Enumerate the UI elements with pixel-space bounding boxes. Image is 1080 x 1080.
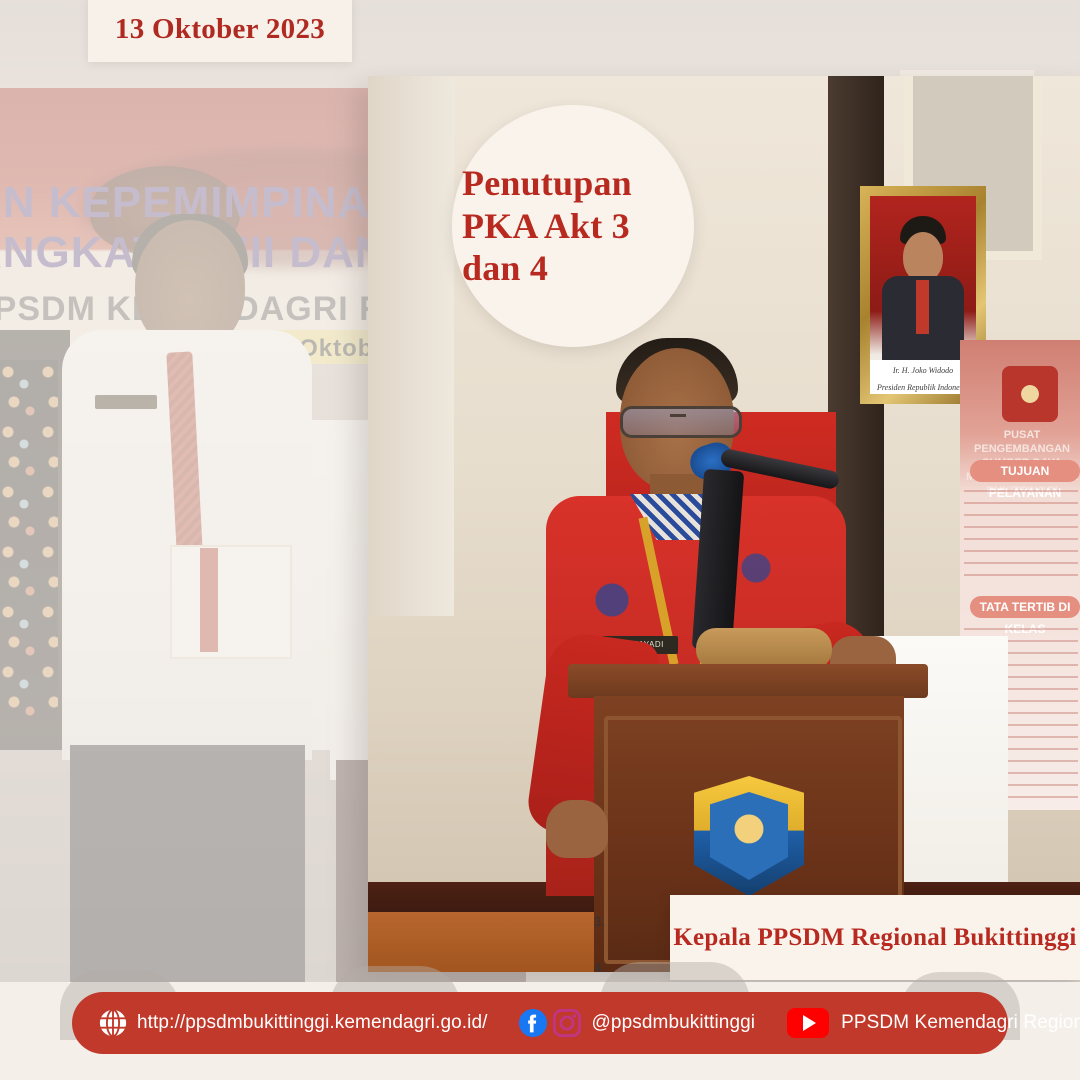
instagram-icon[interactable] (552, 1008, 582, 1038)
main-photo-doorframe (368, 76, 454, 616)
title-circle-badge: Penutupan PKA Akt 3 dan 4 (452, 105, 694, 347)
background-batik-person (0, 360, 58, 720)
poster-canvas: AN KEPEMIMPINAN ADM ANGKATAN III DAN ANG… (0, 0, 1080, 1080)
website-item[interactable]: http://ppsdmbukittinggi.kemendagri.go.id… (98, 1008, 488, 1038)
youtube-icon[interactable] (787, 1008, 829, 1038)
date-badge: 13 Oktober 2023 (88, 0, 352, 62)
footer-area: http://ppsdmbukittinggi.kemendagri.go.id… (0, 982, 1080, 1080)
background-certificate-band (200, 548, 218, 652)
podium-top (568, 664, 928, 698)
main-photo-rollup-crest (1002, 366, 1058, 422)
globe-icon (98, 1008, 128, 1038)
background-certificate (170, 545, 292, 659)
main-photo-rollup-body-1 (964, 490, 1078, 586)
main-photo-rollup-section-1: TUJUAN PELAYANAN (970, 460, 1080, 482)
background-person-1-nametag (95, 395, 157, 409)
speaker-hand-left (546, 800, 608, 858)
date-badge-label: 13 Oktober 2023 (115, 13, 325, 46)
whiteboard-list-number-3: 3. (594, 914, 605, 929)
youtube-channel-name[interactable]: PPSDM Kemendagri Regional Bukittinggi (841, 1012, 1080, 1034)
speaker-glasses-bridge (670, 414, 686, 417)
main-photo-portrait-tie (916, 280, 929, 334)
main-photo-rollup-section-2: TATA TERTIB DI KELAS (970, 596, 1080, 618)
footer-contact-bar: http://ppsdmbukittinggi.kemendagri.go.id… (72, 992, 1008, 1054)
main-photo-portrait-face (903, 232, 943, 282)
title-line-1: Penutupan (462, 162, 632, 204)
facebook-icon[interactable] (518, 1008, 548, 1038)
title-line-3: dan 4 (462, 247, 632, 289)
youtube-play-triangle (803, 1015, 816, 1031)
website-url[interactable]: http://ppsdmbukittinggi.kemendagri.go.id… (137, 1012, 488, 1034)
title-line-2: PKA Akt 3 (462, 205, 632, 247)
caption-label: Kepala PPSDM Regional Bukittinggi (673, 924, 1076, 952)
social-handle[interactable]: @ppsdmbukittinggi (592, 1012, 756, 1034)
speaker-glasses (620, 406, 742, 438)
